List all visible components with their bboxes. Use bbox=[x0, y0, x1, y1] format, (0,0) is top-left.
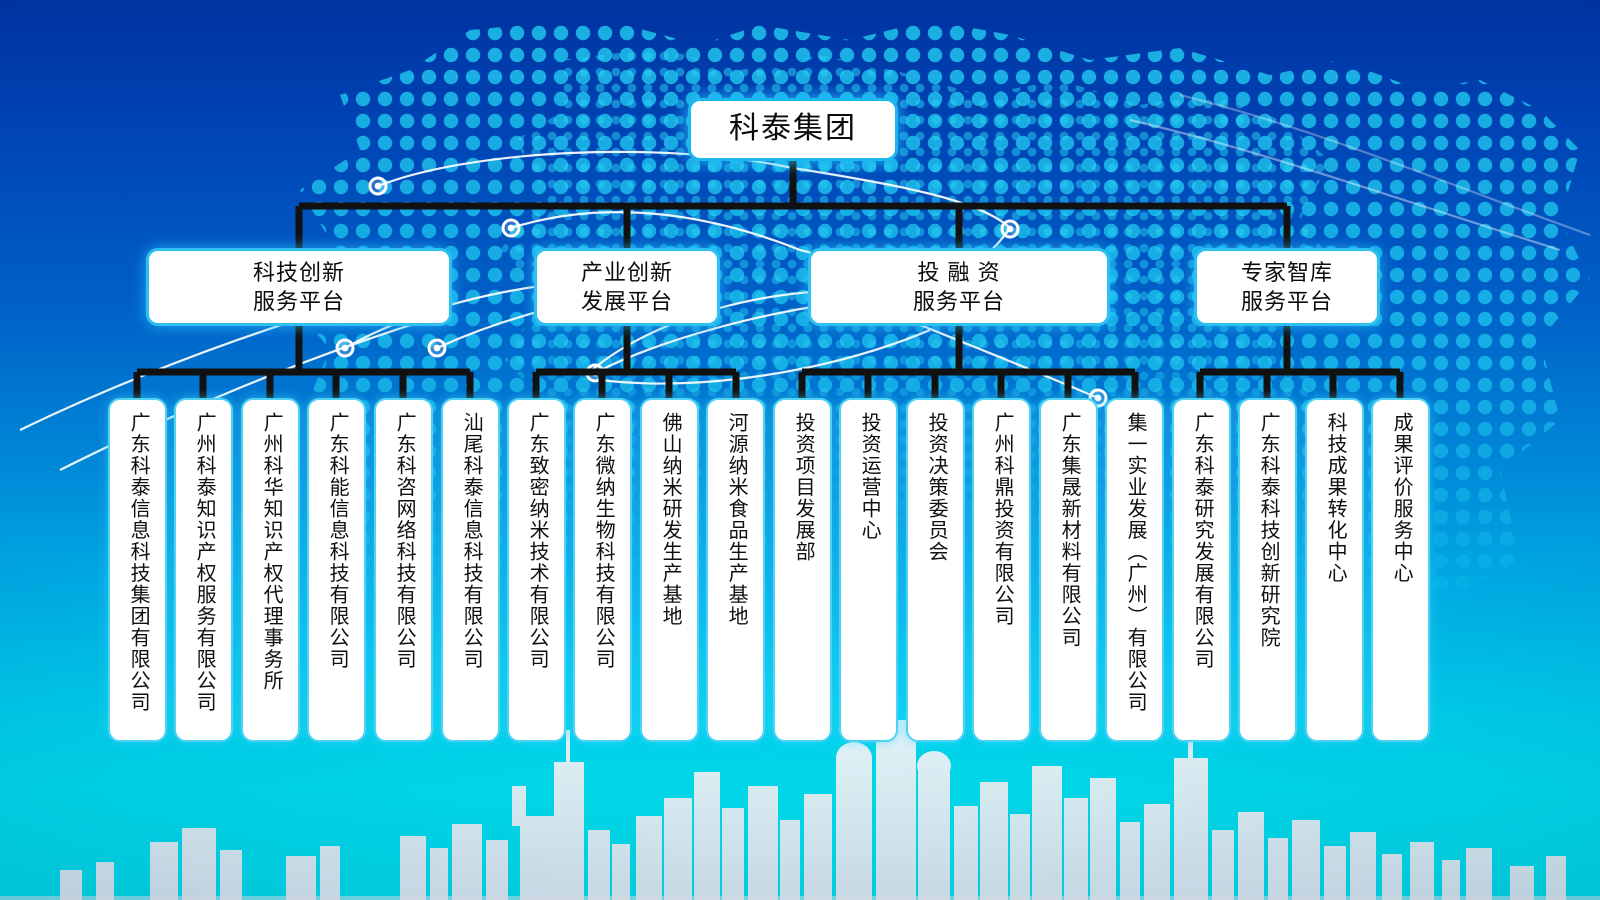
city-skyline bbox=[0, 720, 1600, 900]
leaf-label: 广东科泰科技创新研究院 bbox=[1257, 412, 1278, 649]
platform-label-2: 产业创新 发展平台 bbox=[581, 258, 673, 316]
node-root-label: 科泰集团 bbox=[729, 112, 857, 147]
node-leaf[interactable]: 河源纳米食品生产基地 bbox=[708, 400, 763, 740]
platform-line2: 服务平台 bbox=[253, 287, 345, 316]
node-leaf[interactable]: 投资项目发展部 bbox=[775, 400, 830, 740]
node-leaf[interactable]: 集一实业发展（广州）有限公司 bbox=[1107, 400, 1162, 740]
node-leaf[interactable]: 汕尾科泰信息科技有限公司 bbox=[443, 400, 498, 740]
node-root-group[interactable]: 科泰集团 bbox=[691, 101, 895, 158]
platform-line2: 发展平台 bbox=[581, 287, 673, 316]
leaf-label: 广州科鼎投资有限公司 bbox=[991, 412, 1012, 627]
node-leaf[interactable]: 成果评价服务中心 bbox=[1373, 400, 1428, 740]
platform-line2: 服务平台 bbox=[913, 287, 1005, 316]
node-platform-tech-innovation[interactable]: 科技创新 服务平台 bbox=[149, 251, 449, 323]
node-leaf[interactable]: 广东科能信息科技有限公司 bbox=[309, 400, 364, 740]
node-platform-investment-financing[interactable]: 投 融 资 服务平台 bbox=[811, 251, 1107, 323]
node-leaf[interactable]: 广东致密纳米技术有限公司 bbox=[509, 400, 564, 740]
leaf-label: 广东科泰研究发展有限公司 bbox=[1191, 412, 1212, 670]
node-platform-expert-thinktank[interactable]: 专家智库 服务平台 bbox=[1197, 251, 1377, 323]
leaf-label: 广东集晟新材料有限公司 bbox=[1058, 412, 1079, 649]
platform-label-3: 投 融 资 服务平台 bbox=[913, 258, 1005, 316]
node-leaf[interactable]: 佛山纳米研发生产基地 bbox=[642, 400, 697, 740]
leaf-label: 广东科咨网络科技有限公司 bbox=[393, 412, 414, 670]
node-leaf[interactable]: 广东科泰科技创新研究院 bbox=[1240, 400, 1295, 740]
node-leaf[interactable]: 广东科咨网络科技有限公司 bbox=[376, 400, 431, 740]
leaf-label: 成果评价服务中心 bbox=[1390, 412, 1411, 584]
leaf-label: 佛山纳米研发生产基地 bbox=[659, 412, 680, 627]
node-leaf[interactable]: 广州科华知识产权代理事务所 bbox=[243, 400, 298, 740]
node-leaf[interactable]: 投资决策委员会 bbox=[908, 400, 963, 740]
org-chart-canvas: 科泰集团 科技创新 服务平台 产业创新 发展平台 投 融 资 服务平台 专家智库… bbox=[0, 0, 1600, 900]
node-leaf[interactable]: 广州科泰知识产权服务有限公司 bbox=[176, 400, 231, 740]
leaf-label: 科技成果转化中心 bbox=[1324, 412, 1345, 584]
node-leaf[interactable]: 广东微纳生物科技有限公司 bbox=[575, 400, 630, 740]
leaf-label: 河源纳米食品生产基地 bbox=[725, 412, 746, 627]
platform-line1: 科技创新 bbox=[253, 258, 345, 287]
leaf-label: 广州科泰知识产权服务有限公司 bbox=[193, 412, 214, 713]
leaf-label: 投资项目发展部 bbox=[792, 412, 813, 563]
leaf-label: 广州科华知识产权代理事务所 bbox=[260, 412, 281, 692]
node-leaf[interactable]: 科技成果转化中心 bbox=[1307, 400, 1362, 740]
platform-line1: 投 融 资 bbox=[913, 258, 1005, 287]
node-leaf[interactable]: 广东科泰信息科技集团有限公司 bbox=[110, 400, 165, 740]
node-leaf[interactable]: 广东集晟新材料有限公司 bbox=[1041, 400, 1096, 740]
node-leaf[interactable]: 广州科鼎投资有限公司 bbox=[974, 400, 1029, 740]
leaf-label: 投资运营中心 bbox=[858, 412, 879, 541]
platform-label-4: 专家智库 服务平台 bbox=[1241, 258, 1333, 316]
platform-label-1: 科技创新 服务平台 bbox=[253, 258, 345, 316]
leaf-label: 汕尾科泰信息科技有限公司 bbox=[460, 412, 481, 670]
platform-line1: 产业创新 bbox=[581, 258, 673, 287]
platform-line1: 专家智库 bbox=[1241, 258, 1333, 287]
node-leaf[interactable]: 投资运营中心 bbox=[841, 400, 896, 740]
node-leaf[interactable]: 广东科泰研究发展有限公司 bbox=[1174, 400, 1229, 740]
node-platform-industry-development[interactable]: 产业创新 发展平台 bbox=[537, 251, 717, 323]
platform-line2: 服务平台 bbox=[1241, 287, 1333, 316]
leaf-label: 投资决策委员会 bbox=[925, 412, 946, 563]
leaf-label: 广东科能信息科技有限公司 bbox=[326, 412, 347, 670]
leaf-label: 广东致密纳米技术有限公司 bbox=[526, 412, 547, 670]
leaf-label: 广东微纳生物科技有限公司 bbox=[592, 412, 613, 670]
leaf-label: 集一实业发展（广州）有限公司 bbox=[1124, 412, 1145, 713]
leaf-label: 广东科泰信息科技集团有限公司 bbox=[127, 412, 148, 713]
